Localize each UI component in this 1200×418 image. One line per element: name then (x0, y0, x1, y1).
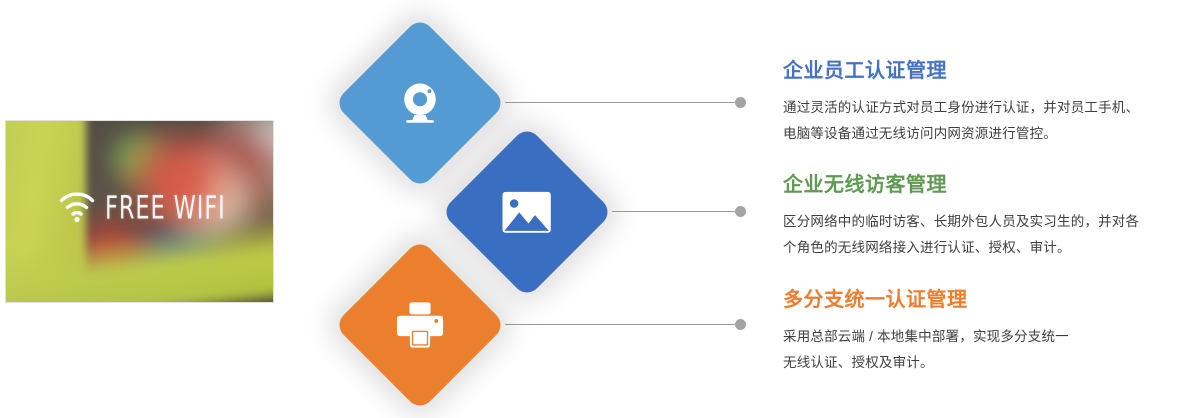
connector-stroke (612, 211, 741, 212)
feature-body-1: 通过灵活的认证方式对员工身份进行认证，并对员工手机、 电脑等设备通过无线访问内网… (783, 95, 1193, 148)
feature-body-line: 通过灵活的认证方式对员工身份进行认证，并对员工手机、 (783, 95, 1193, 121)
image-icon (501, 190, 553, 235)
feature-diamond-3[interactable] (334, 239, 507, 412)
connector-dot (735, 319, 746, 330)
feature-body-3: 采用总部云端 / 本地集中部署，实现多分支统一 无线认证、授权及审计。 (783, 324, 1193, 377)
feature-heading-3: 多分支统一认证管理 (783, 289, 1193, 311)
photo-overlay-text: FREE WIFI (105, 189, 226, 226)
webcam-icon (394, 77, 446, 129)
printer-icon (394, 301, 446, 349)
feature-text-2: 企业无线访客管理 区分网络中的临时访客、长期外包人员及实习生的，并对各 个角色的… (783, 174, 1193, 262)
feature-body-line: 区分网络中的临时访客、长期外包人员及实习生的，并对各 (783, 209, 1193, 235)
feature-heading-2: 企业无线访客管理 (783, 174, 1193, 196)
connector-stroke (505, 102, 741, 103)
connector-dot (735, 206, 746, 217)
feature-body-line: 采用总部云端 / 本地集中部署，实现多分支统一 (783, 324, 1193, 350)
feature-diamond-1[interactable] (334, 17, 507, 190)
feature-body-2: 区分网络中的临时访客、长期外包人员及实习生的，并对各 个角色的无线网络接入进行认… (783, 209, 1193, 262)
feature-text-1: 企业员工认证管理 通过灵活的认证方式对员工身份进行认证，并对员工手机、 电脑等设… (783, 60, 1193, 148)
free-wifi-photo: FREE WIFI (6, 121, 273, 302)
feature-heading-1: 企业员工认证管理 (783, 60, 1193, 82)
feature-diamond-2[interactable] (441, 126, 614, 299)
feature-body-line: 无线认证、授权及审计。 (783, 350, 1193, 376)
wifi-icon (58, 189, 96, 223)
connector-stroke (505, 324, 741, 325)
connector-dot (735, 97, 746, 108)
feature-body-line: 个角色的无线网络接入进行认证、授权、审计。 (783, 235, 1193, 261)
connector-line-2 (612, 206, 746, 218)
connector-line-1 (505, 97, 746, 109)
connector-line-3 (505, 319, 746, 331)
feature-text-3: 多分支统一认证管理 采用总部云端 / 本地集中部署，实现多分支统一 无线认证、授… (783, 289, 1193, 377)
feature-body-line: 电脑等设备通过无线访问内网资源进行管控。 (783, 121, 1193, 147)
